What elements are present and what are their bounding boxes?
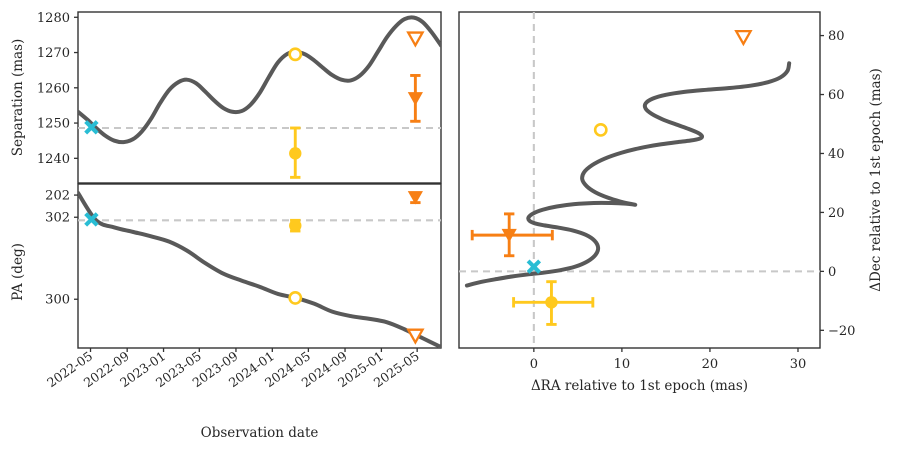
sky-ytick-label-0: −20 [828,324,855,339]
separation-ytick-label-2: 1260 [37,81,70,96]
pa-y-axis-label: PA (deg) [10,243,26,301]
separation-marker-epoch-2-model [290,49,301,60]
pa-marker-epoch-2-model [290,292,301,303]
marker-circle-open [290,49,301,60]
marker-circle-open [290,292,301,303]
pa-ytick-label-0: 202 [45,189,70,204]
marker-circle-open [595,124,606,135]
sky-ytick-label-4: 60 [828,88,845,103]
sky-xtick-label-1: 10 [614,357,631,372]
separation-marker-epoch-2-observed [289,147,301,159]
sky-y-axis-label: ΔDec relative to 1st epoch (mas) [868,68,884,292]
marker-circle-filled [289,147,301,159]
sky-marker-epoch-2-observed [545,296,557,308]
observation-date-axis-label: Observation date [201,425,319,441]
pa-ytick-label-1: 302 [45,211,70,226]
sky-ytick-label-1: 0 [828,265,836,280]
sky-x-axis-label: ΔRA relative to 1st epoch (mas) [531,378,748,394]
sky-xtick-label-0: 0 [530,357,538,372]
sky-ytick-label-2: 20 [828,206,845,221]
pa-marker-epoch-2-observed [289,219,301,231]
separation-ytick-label-4: 1240 [37,152,70,167]
marker-circle-filled [545,296,557,308]
sky-ytick-label-5: 80 [828,29,845,44]
pa-ytick-label-2: 300 [45,293,70,308]
separation-ytick-label-0: 1280 [37,11,70,26]
sky-marker-epoch-2-model [595,124,606,135]
sky-xtick-label-2: 20 [702,357,719,372]
separation-ytick-label-1: 1270 [37,46,70,61]
separation-ytick-label-3: 1250 [37,117,70,132]
plot-svg: 12801270126012501240Separation (mas)2023… [0,0,897,449]
figure-canvas: 12801270126012501240Separation (mas)2023… [0,0,897,449]
marker-circle-filled [289,219,301,231]
sky-ytick-label-3: 40 [828,147,845,162]
sky-xtick-label-3: 30 [790,357,807,372]
separation-y-axis-label: Separation (mas) [10,39,26,157]
